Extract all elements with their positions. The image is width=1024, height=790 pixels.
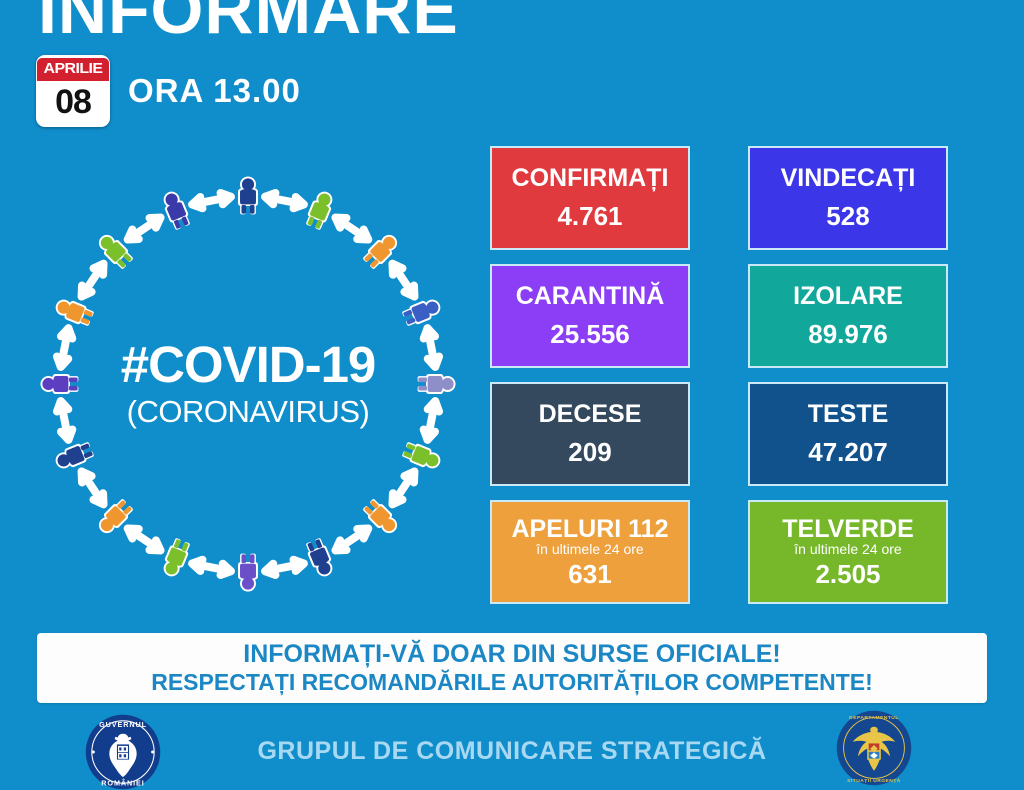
stat-label: TELVERDE [782,516,914,542]
person-icon [401,295,444,328]
stat-label: CARANTINĂ [516,283,665,309]
hour-label: ORA 13.00 [128,72,301,110]
stat-card-vindecati: VINDECAȚI 528 [748,146,948,250]
official-sources-banner: INFORMAȚI-VĂ DOAR DIN SURSE OFICIALE! RE… [37,633,987,703]
date-bar: APRILIE 08 ORA 13.00 [36,55,301,127]
stat-card-telverde: TELVERDE în ultimele 24 ore 2.505 [748,500,948,604]
stat-value: 209 [568,439,611,466]
page-title: INFORMARE [38,0,459,44]
calendar-month-label: APRILIE [37,58,109,81]
person-icon [159,188,192,231]
person-icon [238,176,258,214]
stat-value: 89.976 [808,321,888,348]
stat-label: TESTE [808,401,889,427]
stat-label: CONFIRMAȚI [512,165,669,191]
stat-sublabel: în ultimele 24 ore [794,542,901,557]
dsu-emblem-icon: DEPARTAMENTUL SITUAȚII URGENȚĂ [836,710,912,786]
stat-card-decese: DECESE 209 [490,382,690,486]
stat-card-grid: CONFIRMAȚI 4.761 VINDECAȚI 528 CARANTINĂ… [490,146,948,604]
stat-label: IZOLARE [793,283,903,309]
stat-value: 528 [826,203,869,230]
stat-value: 2.505 [815,561,880,588]
banner-line-1: INFORMAȚI-VĂ DOAR DIN SURSE OFICIALE! [243,640,781,669]
infographic-root: INFORMARE APRILIE 08 ORA 13.00 #COVID-19… [0,0,1024,790]
stat-card-teste: TESTE 47.207 [748,382,948,486]
stat-card-carantina: CARANTINĂ 25.556 [490,264,690,368]
stat-card-confirmati: CONFIRMAȚI 4.761 [490,146,690,250]
person-icon [52,440,95,473]
svg-text:DEPARTAMENTUL: DEPARTAMENTUL [849,715,899,721]
stat-value: 25.556 [550,321,630,348]
stat-label: VINDECAȚI [781,165,916,191]
footer-label: GRUPUL DE COMUNICARE STRATEGICĂ [257,737,766,766]
calendar-icon: APRILIE 08 [36,55,110,127]
people-circle-icon: #COVID-19 (CORONAVIRUS) [22,158,474,610]
person-icon [304,188,337,231]
person-icon [52,295,95,328]
person-icon [401,440,444,473]
person-icon [418,374,456,394]
banner-line-2: RESPECTAȚI RECOMANDĂRILE AUTORITĂȚILOR C… [151,669,873,695]
stat-label: DECESE [539,401,642,427]
stat-sublabel: în ultimele 24 ore [536,542,643,557]
person-icon [304,537,337,580]
stat-card-apeluri-112: APELURI 112 în ultimele 24 ore 631 [490,500,690,604]
stat-card-izolare: IZOLARE 89.976 [748,264,948,368]
stat-value: 631 [568,561,611,588]
stat-label: APELURI 112 [511,516,668,542]
calendar-day-label: 08 [39,81,107,124]
stat-value: 4.761 [557,203,622,230]
person-icon [40,374,78,394]
person-icon [159,537,192,580]
person-icon [238,554,258,592]
stat-value: 47.207 [808,439,888,466]
